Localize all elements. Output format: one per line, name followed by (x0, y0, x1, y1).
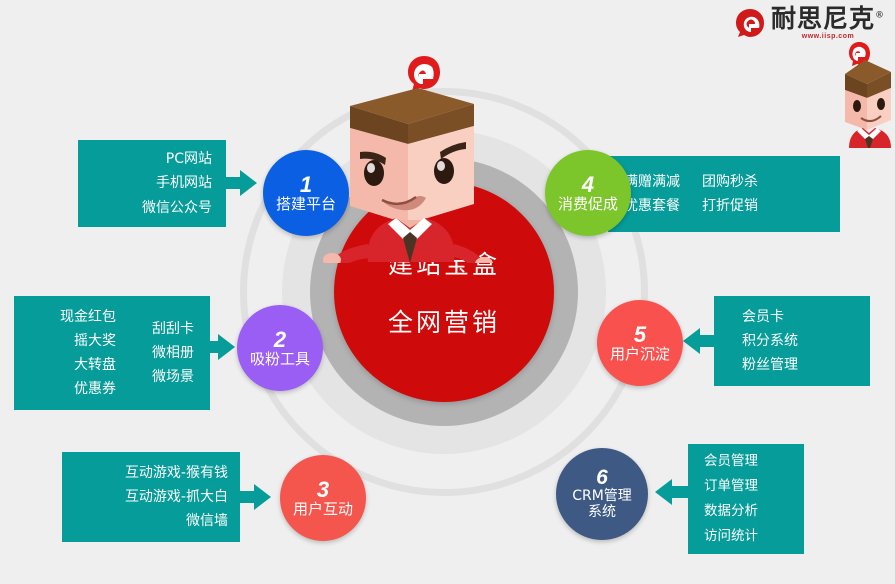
box-fans-tools-item: 大转盘 (74, 353, 116, 377)
box-fans-tools-item: 现金红包 (60, 305, 116, 329)
arrow-fans-tools-to-node2 (218, 334, 235, 360)
box-user-interaction-item: 互动游戏-猴有钱 (125, 461, 228, 485)
box-fans-tools-item: 微场景 (152, 365, 194, 389)
brand-logo-text: 耐思尼克® www.iisp.com (771, 6, 885, 40)
node-6-label: CRM管理 系统 (572, 489, 632, 520)
registered-mark: ® (875, 11, 885, 21)
box-consumption-item: 打折促销 (702, 194, 758, 218)
node-2-fans-tools[interactable]: 2 吸粉工具 (237, 305, 323, 391)
node-1-number: 1 (300, 173, 312, 196)
box-user-interaction: 互动游戏-猴有钱 互动游戏-抓大白 微信墙 (62, 452, 240, 542)
arrow-platform-stem (226, 177, 240, 189)
box-crm-item: 订单管理 (704, 474, 758, 499)
brand-logo: 耐思尼克® www.iisp.com (735, 6, 885, 40)
node-3-user-interaction[interactable]: 3 用户互动 (280, 455, 366, 541)
box-crm-item: 数据分析 (704, 499, 758, 524)
box-fans-tools: 现金红包 摇大奖 大转盘 优惠券 刮刮卡 微相册 微场景 (14, 296, 210, 410)
box-user-retention: 会员卡 积分系统 粉丝管理 (714, 296, 870, 386)
box-user-retention-item: 会员卡 (742, 305, 784, 329)
arrow-retention-to-node5 (683, 328, 700, 354)
node-6-number: 6 (596, 467, 608, 489)
box-crm-item: 会员管理 (704, 449, 758, 474)
center-title-line2: 全网营销 (388, 303, 500, 339)
node-5-label: 用户沉淀 (610, 346, 670, 363)
node-2-number: 2 (274, 328, 286, 351)
box-fans-tools-col1: 现金红包 摇大奖 大转盘 优惠券 (60, 296, 116, 410)
box-user-retention-item: 粉丝管理 (742, 353, 798, 377)
brand-name: 耐思尼克® (771, 6, 885, 31)
box-fans-tools-item: 微相册 (152, 341, 194, 365)
cube-head-mascot-icon (316, 48, 506, 263)
box-user-interaction-item: 互动游戏-抓大白 (125, 485, 228, 509)
box-crm-item: 访问统计 (704, 524, 758, 549)
box-user-interaction-items: 互动游戏-猴有钱 互动游戏-抓大白 微信墙 (62, 452, 228, 542)
arrow-interaction-stem (240, 491, 254, 503)
infographic-canvas: 耐思尼克® www.iisp.com 建站宝盒 全网营销 (0, 0, 895, 584)
arrow-crm-to-node6 (655, 479, 672, 505)
node-4-number: 4 (582, 173, 594, 196)
box-platform-item: 微信公众号 (142, 196, 212, 220)
box-crm-items: 会员管理 订单管理 数据分析 访问统计 (704, 444, 758, 554)
node-3-number: 3 (317, 478, 329, 501)
box-platform-items: PC网站 手机网站 微信公众号 (78, 140, 212, 227)
node-5-user-retention[interactable]: 5 用户沉淀 (597, 300, 683, 386)
box-consumption-col2: 团购秒杀 打折促销 (702, 156, 758, 232)
box-consumption-col1: 满赠满减 优惠套餐 (624, 156, 680, 232)
node-6-crm-system[interactable]: 6 CRM管理 系统 (556, 448, 648, 540)
arrow-interaction-to-node3 (254, 484, 271, 510)
e-swirl-logo-icon (735, 8, 765, 38)
box-platform-item: PC网站 (166, 147, 212, 171)
arrow-platform-to-node1 (240, 170, 257, 196)
box-consumption-item: 团购秒杀 (702, 170, 758, 194)
arrow-retention-stem (700, 335, 716, 347)
box-fans-tools-item: 优惠券 (74, 377, 116, 401)
box-consumption-item: 优惠套餐 (624, 194, 680, 218)
box-consumption: 满赠满减 优惠套餐 团购秒杀 打折促销 (608, 156, 840, 232)
box-fans-tools-item: 摇大奖 (74, 329, 116, 353)
cube-head-mascot-secondary-icon (845, 38, 895, 148)
node-4-consumption[interactable]: 4 消费促成 (545, 150, 631, 236)
box-platform: PC网站 手机网站 微信公众号 (78, 140, 226, 227)
box-user-retention-items: 会员卡 积分系统 粉丝管理 (742, 296, 798, 386)
arrow-fans-tools-stem (210, 341, 218, 353)
box-consumption-item: 满赠满减 (624, 170, 680, 194)
box-platform-item: 手机网站 (156, 171, 212, 195)
box-user-retention-item: 积分系统 (742, 329, 798, 353)
box-crm: 会员管理 订单管理 数据分析 访问统计 (688, 444, 804, 554)
box-user-interaction-item: 微信墙 (186, 509, 228, 533)
node-5-number: 5 (634, 323, 646, 346)
box-fans-tools-item: 刮刮卡 (152, 317, 194, 341)
node-2-label: 吸粉工具 (250, 351, 310, 368)
node-3-label: 用户互动 (293, 501, 353, 518)
box-fans-tools-col2: 刮刮卡 微相册 微场景 (132, 296, 194, 410)
node-4-label: 消费促成 (558, 196, 618, 213)
arrow-crm-stem (672, 486, 690, 498)
